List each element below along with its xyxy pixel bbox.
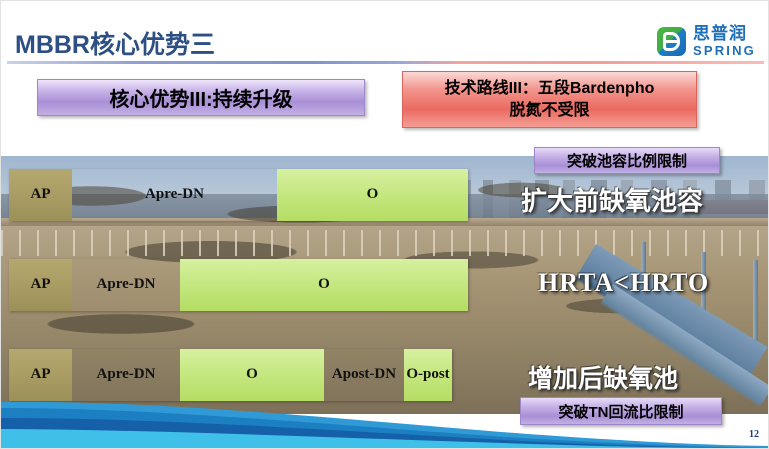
logo-name-en: SPRING [693, 44, 756, 57]
callout-hrt-comparison: HRTA<HRTO [538, 268, 709, 298]
logo-name-cn: 思普润 [693, 25, 756, 42]
process-cell-ap: AP [9, 259, 72, 311]
process-cell-o: O [277, 169, 468, 221]
page-number: 12 [749, 429, 759, 440]
wave-graphic [1, 388, 769, 448]
banner-core-advantage: 核心优势III:持续升级 [37, 79, 365, 116]
logo-text: 思普润 SPRING [693, 25, 756, 57]
process-row-1: APApre-DNO [9, 169, 468, 221]
callout-expand-anoxic: 扩大前缺氧池容 [521, 181, 703, 218]
process-cell-o: O [180, 259, 468, 311]
brand-logo: 思普润 SPRING [657, 25, 756, 57]
slide-header: MBBR核心优势三 思普润 SPRING [1, 1, 769, 63]
bottom-wave-decoration [1, 388, 769, 448]
banner-tech-route-line2: 脱氮不受限 [445, 100, 655, 122]
spring-logo-icon [657, 27, 686, 56]
process-row-2: APApre-DNO [9, 259, 468, 311]
process-cell-ap: AP [9, 169, 72, 221]
badge-volume-ratio: 突破池容比例限制 [534, 147, 720, 174]
page-title: MBBR核心优势三 [15, 25, 215, 61]
process-cell-apre-dn: Apre-DN [72, 259, 180, 311]
banner-tech-route-line1: 技术路线III：五段Bardenpho [445, 80, 655, 97]
banner-tech-route: 技术路线III：五段Bardenpho 脱氮不受限 [402, 71, 697, 128]
process-cell-apre-dn: Apre-DN [72, 169, 277, 221]
header-divider [7, 61, 764, 64]
slide-canvas: MBBR核心优势三 思普润 SPRING 核心优势III:持续升级 技术路线II… [0, 0, 769, 449]
